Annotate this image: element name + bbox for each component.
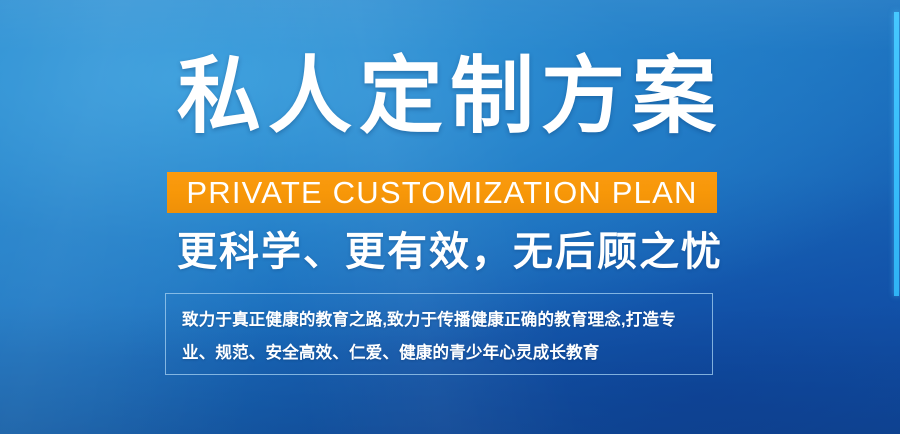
banner-content: 私人定制方案 PRIVATE CUSTOMIZATION PLAN 更科学、更有…	[0, 0, 900, 434]
description-line-1: 致力于真正健康的教育之路,致力于传播健康正确的教育理念,打造专	[182, 304, 696, 337]
promotional-banner: 私人定制方案 PRIVATE CUSTOMIZATION PLAN 更科学、更有…	[0, 0, 900, 434]
banner-subtitle-chinese: 更科学、更有效，无后顾之忧	[0, 228, 900, 276]
english-subtitle-text: PRIVATE CUSTOMIZATION PLAN	[186, 177, 697, 208]
description-line-2: 业、规范、安全高效、仁爱、健康的青少年心灵成长教育	[182, 337, 696, 370]
banner-title-chinese: 私人定制方案	[0, 48, 900, 144]
description-box: 致力于真正健康的教育之路,致力于传播健康正确的教育理念,打造专 业、规范、安全高…	[165, 293, 713, 375]
english-subtitle-band: PRIVATE CUSTOMIZATION PLAN	[167, 172, 717, 213]
